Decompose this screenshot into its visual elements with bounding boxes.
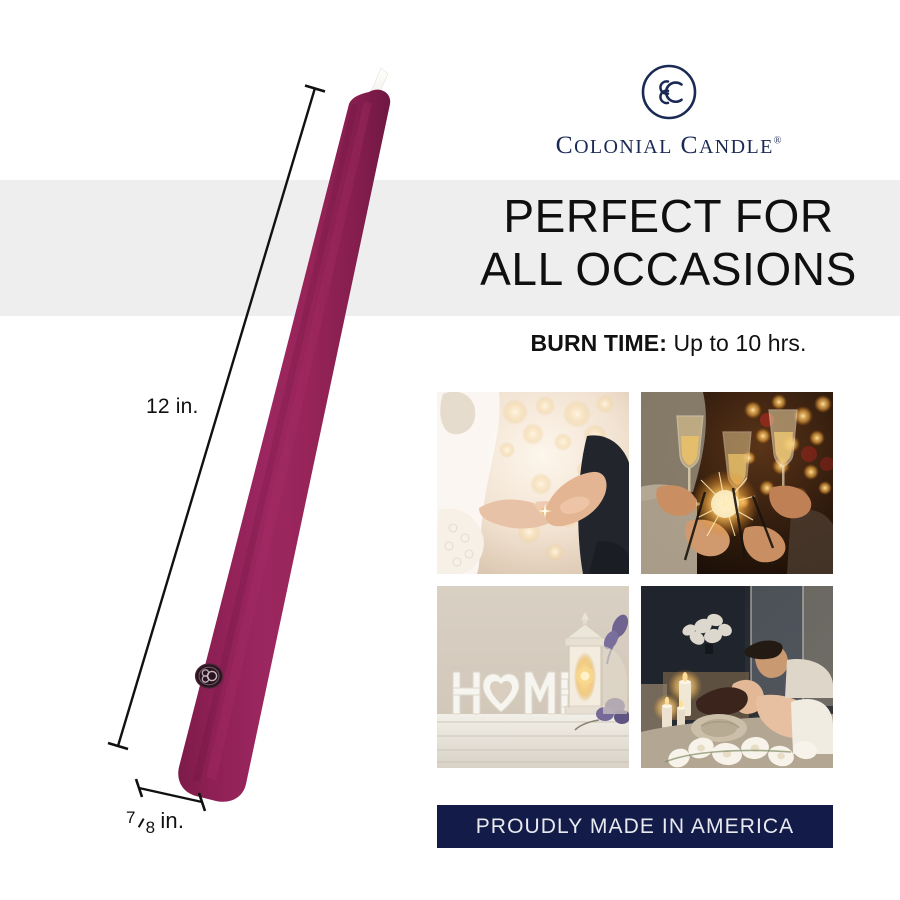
registered-trademark-mark: ®	[774, 136, 782, 147]
burn-time-label: BURN TIME:	[531, 330, 667, 356]
height-dimension-label: 12 in.	[146, 395, 199, 419]
home-sign-image	[437, 586, 629, 768]
width-unit: in.	[160, 808, 184, 834]
wordmark-c-2: C	[681, 130, 699, 159]
fraction-numerator: 7	[126, 809, 136, 826]
wordmark-c-1: C	[556, 130, 574, 159]
wordmark-olonial: OLONIAL	[574, 136, 673, 158]
candle-graphic	[0, 0, 440, 900]
info-panel: COLONIAL CANDLE® PERFECT FOR ALL OCCASIO…	[437, 0, 900, 900]
cc-monogram-icon	[639, 62, 699, 122]
burn-time-value: Up to 10 hrs.	[673, 330, 806, 356]
brand-logo: COLONIAL CANDLE®	[437, 62, 900, 160]
width-dimension-label: 78 in.	[126, 808, 184, 834]
lifestyle-photo-grid	[437, 392, 833, 768]
cc-seal-icon	[196, 664, 223, 688]
fraction-denominator: 8	[146, 819, 156, 836]
photo-wedding-ring-exchange	[437, 392, 629, 574]
champagne-toast-image	[641, 392, 833, 574]
headline-line-2: ALL OCCASIONS	[437, 243, 900, 296]
wedding-ring-image	[437, 392, 629, 574]
brand-wordmark: COLONIAL CANDLE®	[437, 130, 900, 160]
headline-line-1: PERFECT FOR	[437, 190, 900, 243]
fraction-bar	[137, 818, 143, 827]
burn-time-row: BURN TIME: Up to 10 hrs.	[437, 330, 900, 357]
made-in-america-banner: PROUDLY MADE IN AMERICA	[437, 805, 833, 848]
width-fraction: 78	[126, 814, 155, 831]
product-infographic: 12 in. 78 in. COLONIAL CANDLE® PERFECT	[0, 0, 900, 900]
photo-spa-couple-relaxing	[641, 586, 833, 768]
candle-illustration-panel: 12 in. 78 in.	[0, 0, 440, 900]
wordmark-andle: ANDLE	[699, 136, 774, 158]
spa-couple-image	[641, 586, 833, 768]
photo-champagne-toast-sparklers	[641, 392, 833, 574]
headline: PERFECT FOR ALL OCCASIONS	[437, 190, 900, 296]
photo-home-sign-lantern	[437, 586, 629, 768]
